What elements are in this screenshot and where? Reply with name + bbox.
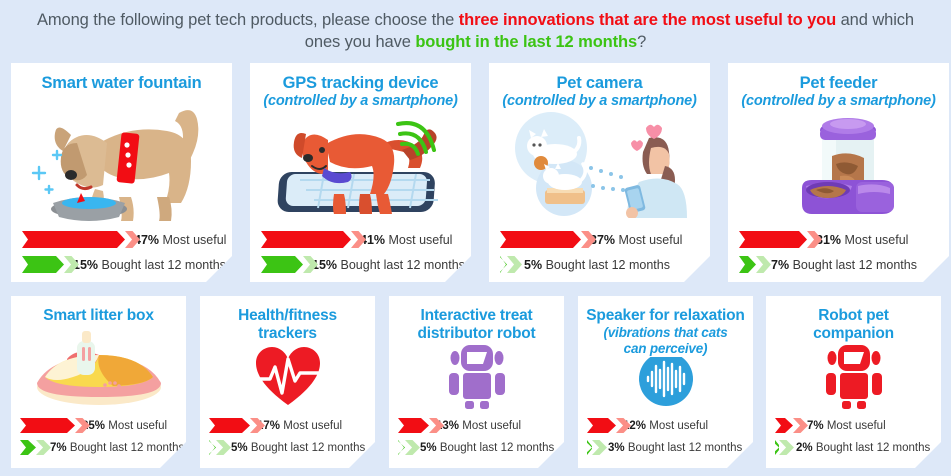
bar-most-useful: 12% Most useful: [587, 418, 753, 433]
card-title: Interactive treat distributor robot: [389, 296, 564, 343]
bar-body: [500, 231, 581, 248]
bar-fill-red: [587, 418, 616, 433]
bar-fill-green: [209, 440, 216, 455]
card-illustration: [11, 325, 186, 411]
litter-box-illustration: [11, 325, 186, 411]
card-title: Robot pet companion: [766, 296, 941, 343]
card-illustration: [250, 110, 471, 218]
card-bars: 41% Most useful 15% Bought last 12 month…: [250, 231, 471, 281]
bar-label: 5% Bought last 12 months: [524, 258, 670, 272]
bar-fill-green: [739, 256, 756, 273]
red-robot-icon: [766, 343, 941, 411]
bar-bought: 7% Bought last 12 months: [739, 256, 949, 273]
card-robot-pet-companion[interactable]: Robot pet companion: [766, 296, 941, 468]
bar-label: 7% Bought last 12 months: [771, 258, 917, 272]
bar-body: [398, 418, 429, 433]
bar-body: [587, 440, 592, 455]
bar-most-useful: 41% Most useful: [261, 231, 471, 248]
card-subtitle-line2: can perceive): [624, 341, 708, 356]
bar-body: [20, 418, 75, 433]
bar-tip: [405, 440, 420, 455]
automatic-pet-food-dispenser-illustration: [728, 110, 949, 218]
bar-label: 7% Most useful: [807, 420, 886, 432]
card-subtitle-line1: (vibrations that cats: [603, 325, 727, 340]
dog-on-smartphone-map-illustration: [250, 110, 471, 218]
bar-most-useful: 17% Most useful: [209, 418, 375, 433]
sound-wave-circle-icon: [578, 357, 753, 407]
bar-fill-green: [20, 440, 36, 455]
bar-body: [739, 256, 756, 273]
heart-pulse-icon: [200, 343, 375, 411]
bar-body: [261, 231, 351, 248]
card-smart-water-fountain[interactable]: Smart water fountain: [11, 63, 232, 282]
bar-label: 17% Most useful: [257, 420, 342, 432]
bar-body: [775, 440, 779, 455]
bar-label: 15% Bought last 12 months: [73, 258, 226, 272]
bar-label: 12% Most useful: [623, 420, 708, 432]
card-title-line2: companion: [813, 325, 894, 342]
bar-body: [739, 231, 807, 248]
bar-fill-red: [739, 231, 807, 248]
bar-label: 31% Most useful: [816, 233, 908, 247]
bar-body: [775, 418, 793, 433]
bar-tip: [779, 440, 794, 455]
card-title: Smart litter box: [11, 296, 186, 325]
card-bars: 7% Most useful 2% Bought last 12 months: [766, 418, 941, 462]
card-bars: 13% Most useful 5% Bought last 12 months: [389, 418, 564, 462]
bar-label: 41% Most useful: [360, 233, 452, 247]
bar-label: 37% Most useful: [590, 233, 682, 247]
bar-tip: [756, 256, 771, 273]
bar-fill-green: [398, 440, 405, 455]
bar-fill-red: [261, 231, 351, 248]
bar-label: 7% Bought last 12 months: [50, 442, 184, 454]
bar-most-useful: 13% Most useful: [398, 418, 564, 433]
bar-fill-green: [587, 440, 592, 455]
bar-most-useful: 37% Most useful: [500, 231, 710, 248]
bar-label: 13% Most useful: [436, 420, 521, 432]
bar-body: [500, 256, 507, 273]
bar-label: 47% Most useful: [134, 233, 226, 247]
bar-label: 3% Bought last 12 months: [608, 442, 742, 454]
bar-body: [22, 231, 125, 248]
card-smart-litter-box[interactable]: Smart litter box: [11, 296, 186, 468]
card-gps-tracking-device[interactable]: GPS tracking device (controlled by a sma…: [250, 63, 471, 282]
card-subtitle: (vibrations that cats can perceive): [578, 325, 753, 357]
bar-body: [587, 418, 616, 433]
bar-body: [22, 256, 64, 273]
bar-bought: 5% Bought last 12 months: [209, 440, 375, 455]
card-illustration: [578, 357, 753, 407]
bar-label: 5% Bought last 12 months: [231, 442, 365, 454]
bar-tip: [216, 440, 231, 455]
bar-fill-green: [500, 256, 507, 273]
bar-bought: 15% Bought last 12 months: [22, 256, 232, 273]
card-title: Smart water fountain: [11, 63, 232, 93]
bar-body: [209, 440, 216, 455]
bar-fill-green: [775, 440, 779, 455]
bar-fill-green: [261, 256, 303, 273]
card-title-line2: trackers: [258, 325, 317, 342]
bar-body: [261, 256, 303, 273]
bar-bought: 2% Bought last 12 months: [775, 440, 941, 455]
card-title: GPS tracking device (controlled by a sma…: [250, 63, 471, 110]
bar-most-useful: 7% Most useful: [775, 418, 941, 433]
card-speaker-for-relaxation[interactable]: Speaker for relaxation (vibrations that …: [578, 296, 753, 468]
bar-tip: [592, 440, 607, 455]
bar-body: [20, 440, 36, 455]
bar-fill-red: [398, 418, 429, 433]
card-bars: 12% Most useful 3% Bought last 12 months: [578, 418, 753, 462]
bar-fill-red: [209, 418, 250, 433]
card-title: Pet feeder (controlled by a smartphone): [728, 63, 949, 110]
bar-fill-red: [20, 418, 75, 433]
card-illustration: [766, 343, 941, 411]
card-health-fitness-trackers[interactable]: Health/fitness trackers 17% Most useful: [200, 296, 375, 468]
bar-label: 2% Bought last 12 months: [796, 442, 930, 454]
card-title-line2: distributor robot: [418, 325, 536, 342]
card-illustration: [389, 343, 564, 411]
card-pet-camera[interactable]: Pet camera (controlled by a smartphone): [489, 63, 710, 282]
card-subtitle: (controlled by a smartphone): [728, 93, 949, 110]
card-title: Health/fitness trackers: [200, 296, 375, 343]
bar-most-useful: 31% Most useful: [739, 231, 949, 248]
bar-tip: [507, 256, 522, 273]
bar-label: 25% Most useful: [82, 420, 167, 432]
bar-label: 15% Bought last 12 months: [312, 258, 465, 272]
bar-tip: [793, 418, 808, 433]
card-bars: 25% Most useful 7% Bought last 12 months: [11, 418, 186, 462]
card-illustration: [11, 93, 232, 221]
bar-most-useful: 47% Most useful: [22, 231, 232, 248]
card-title: Pet camera (controlled by a smartphone): [489, 63, 710, 110]
bar-bought: 5% Bought last 12 months: [500, 256, 710, 273]
card-title: Speaker for relaxation (vibrations that …: [578, 296, 753, 357]
bar-body: [398, 440, 405, 455]
dog-drinking-from-bowl-illustration: [11, 93, 232, 221]
bar-fill-red: [22, 231, 125, 248]
bar-fill-red: [775, 418, 793, 433]
card-illustration: [200, 343, 375, 411]
bar-tip: [36, 440, 51, 455]
bar-fill-red: [500, 231, 581, 248]
bar-bought: 15% Bought last 12 months: [261, 256, 471, 273]
card-illustration: [728, 110, 949, 218]
card-illustration: [489, 110, 710, 218]
purple-robot-icon: [389, 343, 564, 411]
card-bars: 31% Most useful 7% Bought last 12 months: [728, 231, 949, 281]
cards-grid: Smart water fountain: [0, 0, 951, 476]
card-bars: 47% Most useful 15% Bought last 12 month…: [11, 231, 232, 281]
bar-label: 5% Bought last 12 months: [420, 442, 554, 454]
bar-bought: 5% Bought last 12 months: [398, 440, 564, 455]
bar-most-useful: 25% Most useful: [20, 418, 186, 433]
card-bars: 37% Most useful 5% Bought last 12 months: [489, 231, 710, 281]
bar-fill-green: [22, 256, 64, 273]
card-interactive-treat-distributor-robot[interactable]: Interactive treat distributor robot: [389, 296, 564, 468]
woman-watching-cat-on-phone-illustration: [489, 110, 710, 218]
card-pet-feeder[interactable]: Pet feeder (controlled by a smartphone): [728, 63, 949, 282]
bar-bought: 3% Bought last 12 months: [587, 440, 753, 455]
card-bars: 17% Most useful 5% Bought last 12 months: [200, 418, 375, 462]
bar-body: [209, 418, 250, 433]
card-subtitle: (controlled by a smartphone): [250, 93, 471, 110]
card-subtitle: (controlled by a smartphone): [489, 93, 710, 110]
bar-bought: 7% Bought last 12 months: [20, 440, 186, 455]
